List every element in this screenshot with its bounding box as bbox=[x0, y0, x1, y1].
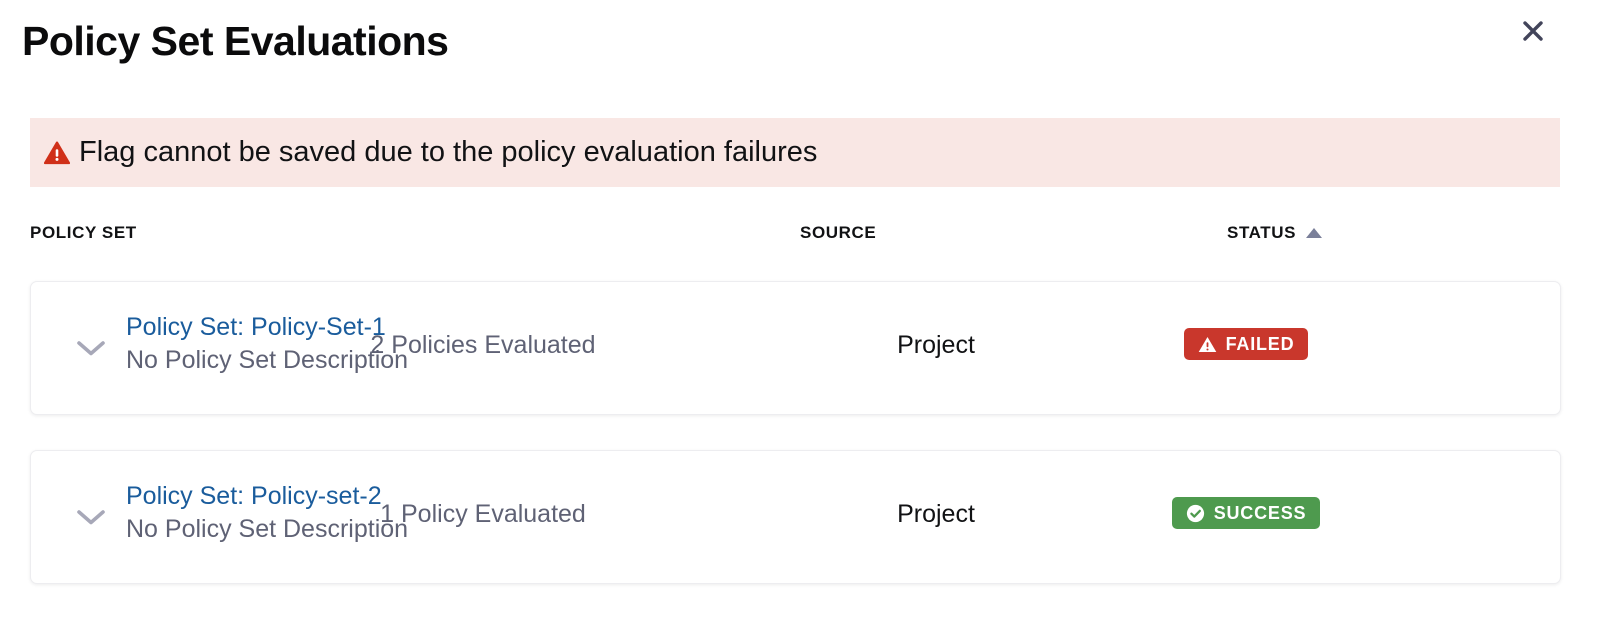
policy-set-source: Project bbox=[771, 500, 1101, 529]
policy-failure-alert: Flag cannot be saved due to the policy e… bbox=[30, 118, 1560, 187]
close-icon-glyph bbox=[1520, 18, 1546, 44]
status-badge-label: SUCCESS bbox=[1214, 503, 1307, 524]
warning-triangle-icon bbox=[1198, 335, 1217, 354]
table-row[interactable]: Policy Set: Policy-Set-1 No Policy Set D… bbox=[30, 281, 1561, 415]
chevron-down-icon[interactable] bbox=[71, 332, 111, 364]
warning-triangle-icon-glyph bbox=[1198, 336, 1217, 353]
sort-ascending-arrow-icon bbox=[1306, 228, 1322, 238]
check-circle-icon bbox=[1186, 504, 1205, 523]
alert-message: Flag cannot be saved due to the policy e… bbox=[79, 135, 817, 170]
chevron-down-icon[interactable] bbox=[71, 501, 111, 533]
check-circle-icon-glyph bbox=[1186, 504, 1205, 523]
status-cell: SUCCESS bbox=[1106, 497, 1386, 529]
page-title: Policy Set Evaluations bbox=[22, 18, 449, 65]
column-header-status-label: STATUS bbox=[1227, 223, 1296, 243]
warning-triangle-icon-glyph bbox=[44, 141, 70, 165]
column-header-policy-set: POLICY SET bbox=[30, 223, 137, 243]
policy-set-source: Project bbox=[771, 331, 1101, 360]
warning-triangle-icon bbox=[44, 140, 70, 166]
status-badge: SUCCESS bbox=[1172, 497, 1321, 529]
chevron-down-icon-glyph bbox=[75, 338, 107, 358]
status-badge: FAILED bbox=[1184, 328, 1309, 360]
policies-evaluated-count: 2 Policies Evaluated bbox=[318, 331, 648, 360]
column-header-source: SOURCE bbox=[800, 223, 876, 243]
close-icon[interactable] bbox=[1516, 14, 1550, 48]
status-cell: FAILED bbox=[1106, 328, 1386, 360]
column-header-status[interactable]: STATUS bbox=[1227, 223, 1322, 243]
chevron-down-icon-glyph bbox=[75, 507, 107, 527]
status-badge-label: FAILED bbox=[1226, 334, 1295, 355]
policy-set-evaluations-dialog: Policy Set Evaluations Flag cannot be sa… bbox=[0, 0, 1600, 623]
table-header-row: POLICY SET SOURCE STATUS bbox=[0, 218, 1600, 252]
table-row[interactable]: Policy Set: Policy-set-2 No Policy Set D… bbox=[30, 450, 1561, 584]
policies-evaluated-count: 1 Policy Evaluated bbox=[318, 500, 648, 529]
